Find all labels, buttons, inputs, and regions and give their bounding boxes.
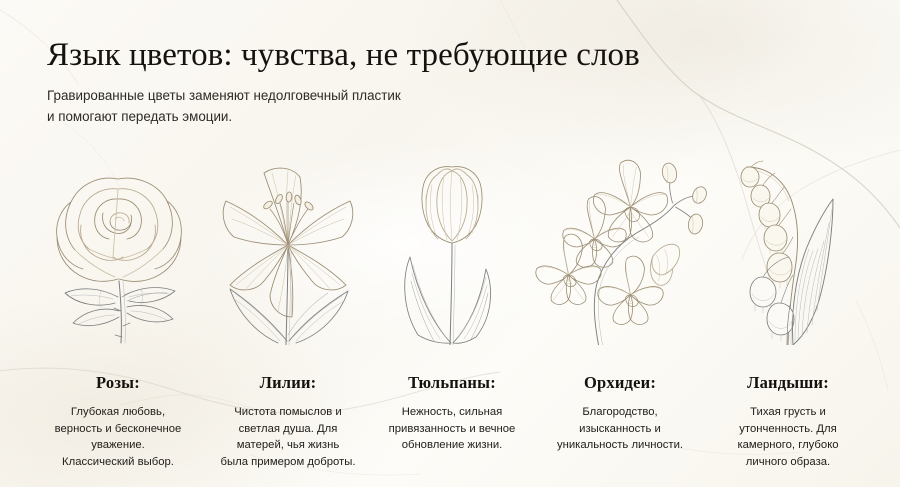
column-description: Нежность, сильная привязанность и вечное…	[364, 404, 540, 454]
poster-canvas: Язык цветов: чувства, не требующие слов …	[0, 0, 900, 487]
column-description: Глубокая любовь, верность и бесконечное …	[30, 404, 206, 470]
flower-column-orchid: Орхидеи: Благородство, изысканность и ун…	[532, 145, 708, 454]
column-title: Розы:	[30, 373, 206, 393]
column-title: Тюльпаны:	[364, 373, 540, 393]
orchid-illustration	[532, 145, 708, 345]
page-title: Язык цветов: чувства, не требующие слов	[47, 34, 640, 76]
column-description: Чистота помыслов и светлая душа. Для мат…	[200, 404, 376, 470]
column-title: Ландыши:	[700, 373, 876, 393]
rose-illustration	[30, 145, 206, 345]
column-title: Орхидеи:	[532, 373, 708, 393]
tulip-illustration	[364, 145, 540, 345]
lily-illustration	[200, 145, 376, 345]
flower-column-lily-of-the-valley: Ландыши: Тихая грусть и утонченность. Дл…	[700, 145, 876, 470]
page-subtitle: Гравированные цветы заменяют недолговечн…	[47, 86, 401, 127]
column-description: Благородство, изысканность и уникальност…	[532, 404, 708, 454]
flower-column-lily: Лилии: Чистота помыслов и светлая душа. …	[200, 145, 376, 470]
column-title: Лилии:	[200, 373, 376, 393]
column-description: Тихая грусть и утонченность. Для камерно…	[700, 404, 876, 470]
flower-column-rose: Розы: Глубокая любовь, верность и бескон…	[30, 145, 206, 470]
lily-of-the-valley-illustration	[700, 145, 876, 345]
flower-column-tulip: Тюльпаны: Нежность, сильная привязанност…	[364, 145, 540, 454]
